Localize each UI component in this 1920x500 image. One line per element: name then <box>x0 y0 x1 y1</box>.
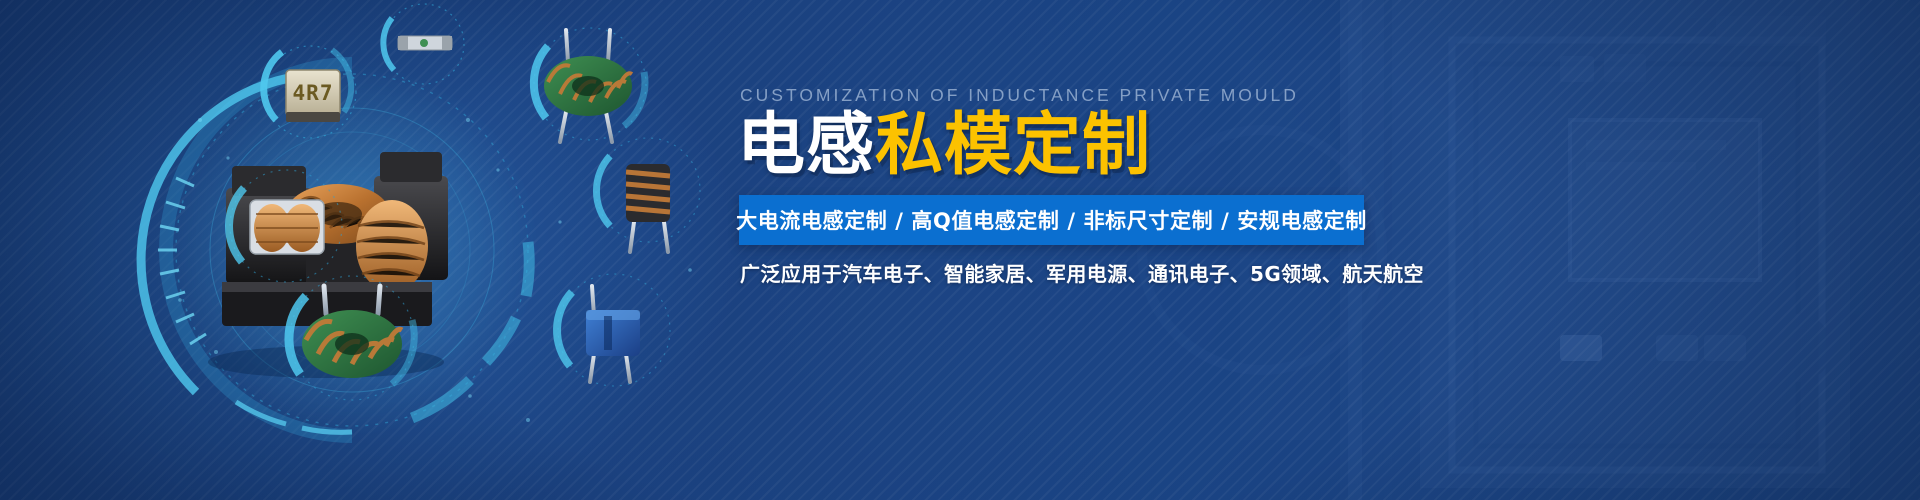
feature-bar: 大电流电感定制 / 高Q值电感定制 / 非标尺寸定制 / 安规电感定制 <box>739 195 1364 245</box>
feature-bar-text: 大电流电感定制 / 高Q值电感定制 / 非标尺寸定制 / 安规电感定制 <box>736 205 1367 235</box>
banner-title-white: 电感 <box>737 106 875 185</box>
inductor-illustration: 4R7 <box>0 0 740 500</box>
banner-text-content: CUSTOMIZATION OF INDUCTANCE PRIVATE MOUL… <box>735 0 1795 500</box>
banner-title-yellow: 私模定制 <box>875 106 1151 185</box>
chip-marking-label: 4R7 <box>293 81 334 105</box>
banner-eyebrow-english: CUSTOMIZATION OF INDUCTANCE PRIVATE MOUL… <box>740 85 1299 106</box>
toroid-choke-green <box>534 24 646 142</box>
product-showcase-graphic: 4R7 <box>0 0 740 500</box>
radial-blue-component <box>557 274 670 386</box>
banner-tagline: 广泛应用于汽车电子、智能家居、军用电源、通讯电子、5G领域、航天航空 <box>740 258 1424 287</box>
axial-rod-inductor <box>596 138 700 252</box>
banner-title: 电感私模定制 <box>737 112 1151 180</box>
promo-banner: 4R7 <box>0 0 1920 500</box>
